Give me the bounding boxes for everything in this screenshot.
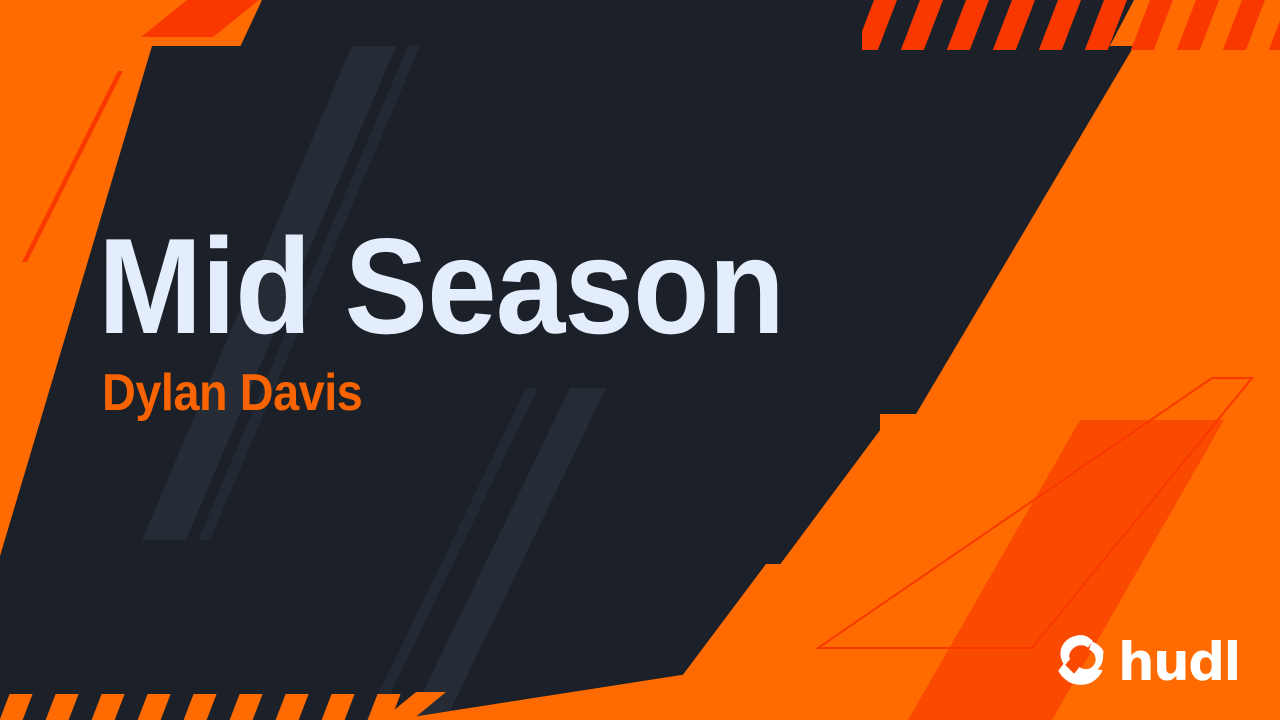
hudl-wordmark: hudl xyxy=(1118,636,1240,689)
page-title: Mid Season xyxy=(98,222,852,351)
brand-logo: hudl xyxy=(1054,633,1244,692)
title-card-canvas: Mid Season Dylan Davis hudl xyxy=(0,0,1280,720)
title-block: Mid Season Dylan Davis xyxy=(98,222,918,419)
page-subtitle: Dylan Davis xyxy=(102,367,836,419)
hudl-shield-icon xyxy=(1054,633,1108,692)
